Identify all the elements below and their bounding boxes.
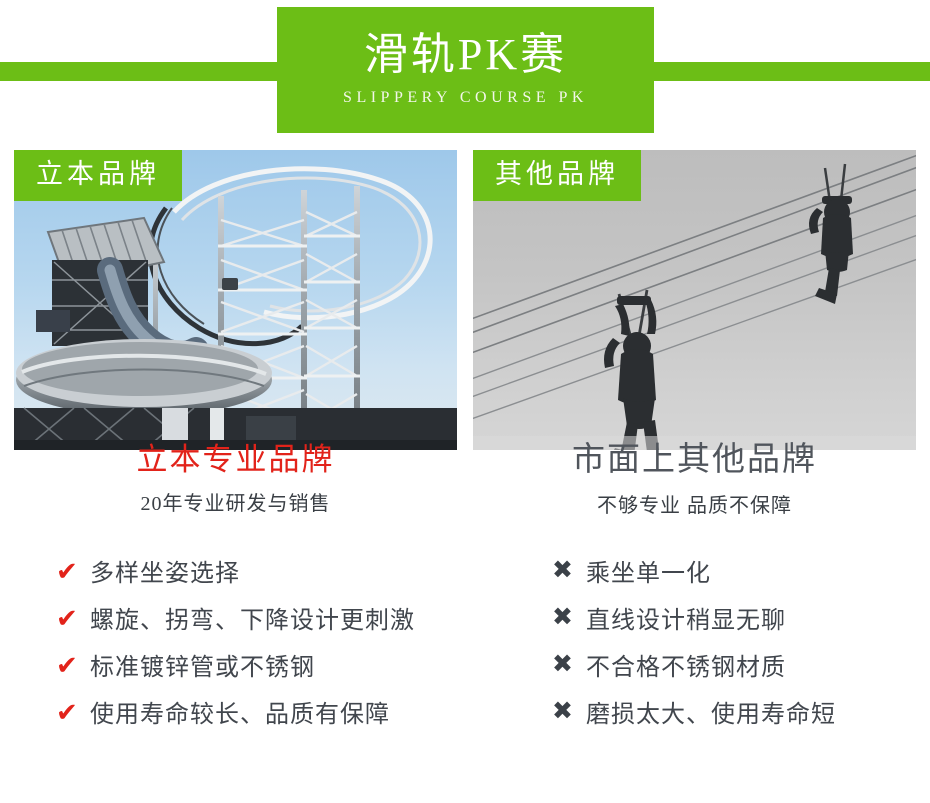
list-item-label: 多样坐姿选择 — [90, 553, 240, 588]
headline-left-sub: 20年专业研发与销售 — [14, 487, 457, 516]
header-title-box: 滑轨PK赛 SLIPPERY COURSE PK — [277, 7, 654, 133]
list-item-label: 标准镀锌管或不锈钢 — [90, 647, 315, 682]
list-item-label: 使用寿命较长、品质有保障 — [90, 694, 390, 729]
headline-left-main: 立本专业品牌 — [14, 442, 457, 478]
check-icon: ✔ — [56, 558, 90, 584]
list-item-label: 直线设计稍显无聊 — [586, 600, 786, 635]
list-item: ✖ 不合格不锈钢材质 — [552, 641, 836, 688]
headline-row: 立本专业品牌 20年专业研发与销售 市面上其他品牌 不够专业 品质不保障 — [0, 442, 930, 547]
headline-right-sub: 不够专业 品质不保障 — [473, 489, 916, 518]
bullet-list-right: ✖ 乘坐单一化 ✖ 直线设计稍显无聊 ✖ 不合格不锈钢材质 ✖ 磨损太大、使用寿… — [552, 547, 836, 735]
list-item-label: 螺旋、拐弯、下降设计更刺激 — [90, 600, 415, 635]
list-item: ✔ 螺旋、拐弯、下降设计更刺激 — [56, 594, 415, 641]
cross-icon: ✖ — [552, 652, 586, 677]
headline-left: 立本专业品牌 20年专业研发与销售 — [14, 442, 457, 516]
page-header: 滑轨PK赛 SLIPPERY COURSE PK — [0, 0, 930, 140]
photo-right-other: 其他品牌 — [473, 150, 916, 450]
bullet-list-left: ✔ 多样坐姿选择 ✔ 螺旋、拐弯、下降设计更刺激 ✔ 标准镀锌管或不锈钢 ✔ 使… — [56, 547, 415, 735]
list-item-label: 磨损太大、使用寿命短 — [586, 694, 836, 729]
list-item: ✔ 标准镀锌管或不锈钢 — [56, 641, 415, 688]
badge-left-brand: 立本品牌 — [14, 150, 182, 201]
list-item: ✖ 乘坐单一化 — [552, 547, 836, 594]
badge-right-brand: 其他品牌 — [473, 150, 641, 201]
headline-right: 市面上其他品牌 不够专业 品质不保障 — [473, 442, 916, 518]
list-item-label: 乘坐单一化 — [586, 553, 711, 588]
list-item: ✔ 多样坐姿选择 — [56, 547, 415, 594]
check-icon: ✔ — [56, 699, 90, 725]
cross-icon: ✖ — [552, 605, 586, 630]
cross-icon: ✖ — [552, 699, 586, 724]
photo-left-liben: 立本品牌 — [14, 150, 457, 450]
check-icon: ✔ — [56, 605, 90, 631]
list-item-label: 不合格不锈钢材质 — [586, 647, 786, 682]
list-item: ✖ 直线设计稍显无聊 — [552, 594, 836, 641]
headline-right-main: 市面上其他品牌 — [473, 442, 916, 480]
comparison-photo-row: 立本品牌 — [0, 140, 930, 442]
page-title: 滑轨PK赛 — [364, 33, 567, 77]
bullets-row: ✔ 多样坐姿选择 ✔ 螺旋、拐弯、下降设计更刺激 ✔ 标准镀锌管或不锈钢 ✔ 使… — [0, 547, 930, 757]
list-item: ✔ 使用寿命较长、品质有保障 — [56, 688, 415, 735]
check-icon: ✔ — [56, 652, 90, 678]
page-subtitle: SLIPPERY COURSE PK — [343, 89, 588, 107]
list-item: ✖ 磨损太大、使用寿命短 — [552, 688, 836, 735]
cross-icon: ✖ — [552, 558, 586, 583]
